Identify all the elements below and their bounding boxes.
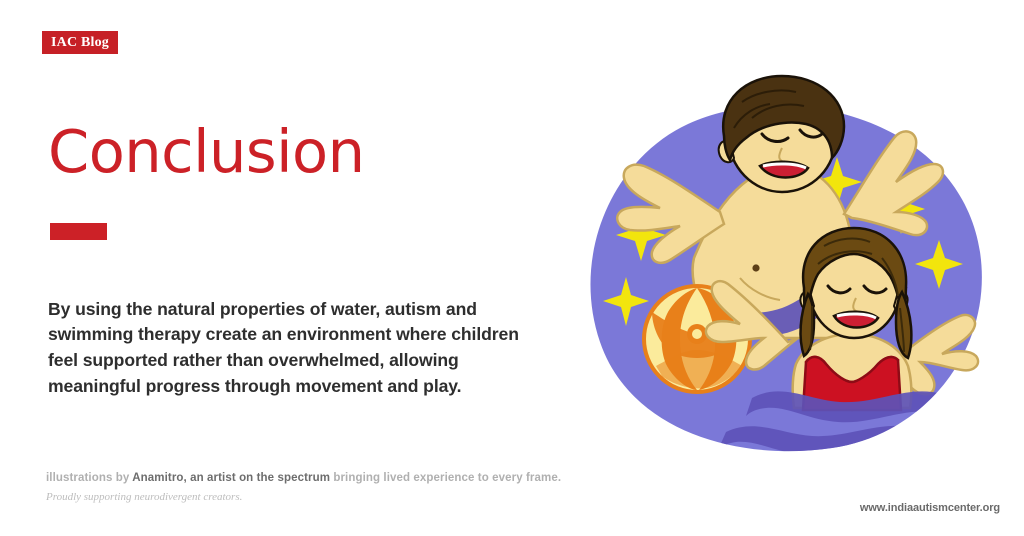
illustration-credit: illustrations by Anamitro, an artist on …	[46, 472, 561, 484]
credit-prefix: illustrations by	[46, 472, 132, 484]
credit-artist: Anamitro, an artist on the spectrum	[132, 472, 330, 484]
body-paragraph: By using the natural properties of water…	[48, 297, 528, 400]
slide-canvas: IAC Blog Conclusion By using the natural…	[0, 0, 1024, 536]
credit-suffix: bringing lived experience to every frame…	[330, 472, 561, 484]
site-url[interactable]: www.indiaautismcenter.org	[860, 502, 1000, 514]
credit-subline: Proudly supporting neurodivergent creato…	[46, 491, 242, 503]
page-title: Conclusion	[48, 122, 365, 181]
swimming-illustration-svg: Two smiling children with arms raised pl…	[556, 62, 1006, 472]
blog-badge[interactable]: IAC Blog	[42, 31, 118, 54]
blog-badge-label: IAC Blog	[51, 36, 109, 50]
title-underline-rule	[50, 223, 107, 240]
swimming-illustration: Two smiling children with arms raised pl…	[556, 62, 1006, 472]
